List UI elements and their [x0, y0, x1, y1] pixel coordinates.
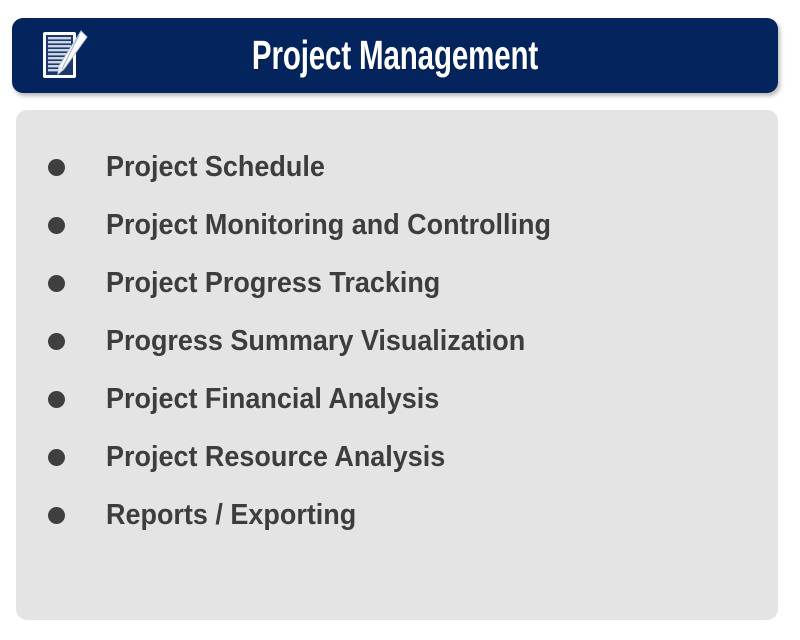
notepad-pen-icon — [38, 29, 92, 83]
list-item-label: Reports / Exporting — [106, 501, 356, 530]
list-item[interactable]: Project Schedule — [48, 138, 584, 196]
list-item-label: Project Monitoring and Controlling — [106, 211, 551, 240]
bullet-icon — [48, 391, 65, 408]
bullet-icon — [48, 333, 65, 350]
list-item[interactable]: Progress Summary Visualization — [48, 312, 584, 370]
list-item[interactable]: Reports / Exporting — [48, 486, 584, 544]
feature-list: Project Schedule Project Monitoring and … — [48, 138, 584, 544]
bullet-icon — [48, 507, 65, 524]
header-bar: Project Management — [12, 18, 778, 93]
list-item-label: Project Schedule — [106, 153, 325, 182]
list-item-label: Project Resource Analysis — [106, 443, 445, 472]
list-item[interactable]: Project Financial Analysis — [48, 370, 584, 428]
bullet-icon — [48, 159, 65, 176]
bullet-icon — [48, 449, 65, 466]
list-item[interactable]: Project Monitoring and Controlling — [48, 196, 584, 254]
content-panel: Project Schedule Project Monitoring and … — [16, 110, 778, 620]
list-item-label: Progress Summary Visualization — [106, 327, 525, 356]
page-title: Project Management — [119, 18, 671, 93]
slide-root: Project Management Project Schedule Proj… — [0, 0, 800, 640]
list-item[interactable]: Project Resource Analysis — [48, 428, 584, 486]
list-item-label: Project Financial Analysis — [106, 385, 439, 414]
bullet-icon — [48, 217, 65, 234]
bullet-icon — [48, 275, 65, 292]
list-item-label: Project Progress Tracking — [106, 269, 440, 298]
list-item[interactable]: Project Progress Tracking — [48, 254, 584, 312]
